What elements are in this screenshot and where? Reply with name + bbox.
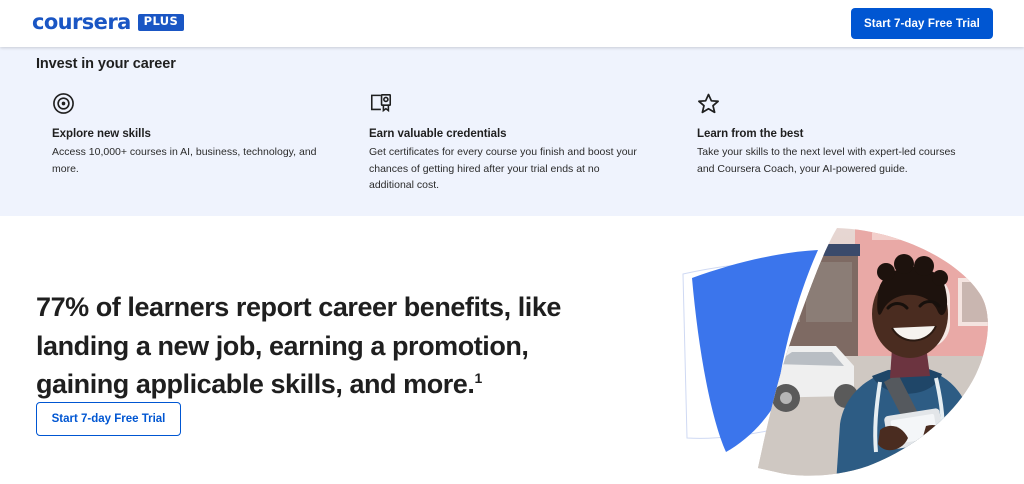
benefit-item-earn-valuable-credentials: Earn valuable credentials Get certificat… xyxy=(345,92,675,194)
hero-stat: 77% xyxy=(36,292,89,322)
benefit-heading: Explore new skills xyxy=(52,128,321,140)
hero-image-collage xyxy=(640,216,1024,484)
coursera-wordmark: coursera xyxy=(32,12,131,33)
hero-headline: 77% of learners report career benefits, … xyxy=(36,288,616,404)
benefits-columns: Explore new skills Access 10,000+ course… xyxy=(0,92,1024,194)
benefit-body: Take your skills to the next level with … xyxy=(697,144,971,177)
certificate-icon xyxy=(369,92,651,117)
hero-section: 77% of learners report career benefits, … xyxy=(0,216,1024,484)
benefits-title: Invest in your career xyxy=(36,56,176,72)
benefit-heading: Earn valuable credentials xyxy=(369,128,651,140)
site-header: coursera PLUS Start 7-day Free Trial xyxy=(0,0,1024,47)
target-icon xyxy=(52,92,321,117)
star-icon xyxy=(697,92,1000,117)
coursera-plus-logo[interactable]: coursera PLUS xyxy=(32,12,184,33)
plus-badge: PLUS xyxy=(138,14,185,31)
hero-start-free-trial-button[interactable]: Start 7-day Free Trial xyxy=(36,402,181,436)
benefits-band: Invest in your career Explore new skills… xyxy=(0,47,1024,216)
benefit-heading: Learn from the best xyxy=(697,128,1000,140)
hero-text-block: 77% of learners report career benefits, … xyxy=(36,288,616,404)
benefit-item-explore-new-skills: Explore new skills Access 10,000+ course… xyxy=(0,92,345,194)
coursera-plus-landing-page: coursera PLUS Start 7-day Free Trial Inv… xyxy=(0,0,1024,484)
header-start-free-trial-button[interactable]: Start 7-day Free Trial xyxy=(851,8,993,39)
benefit-body: Access 10,000+ courses in AI, business, … xyxy=(52,144,321,177)
benefit-body: Get certificates for every course you fi… xyxy=(369,144,641,194)
hero-headline-rest: of learners report career benefits, like… xyxy=(36,292,561,399)
hero-footnote-marker: 1 xyxy=(474,370,481,386)
benefit-item-learn-from-the-best: Learn from the best Take your skills to … xyxy=(675,92,1024,194)
